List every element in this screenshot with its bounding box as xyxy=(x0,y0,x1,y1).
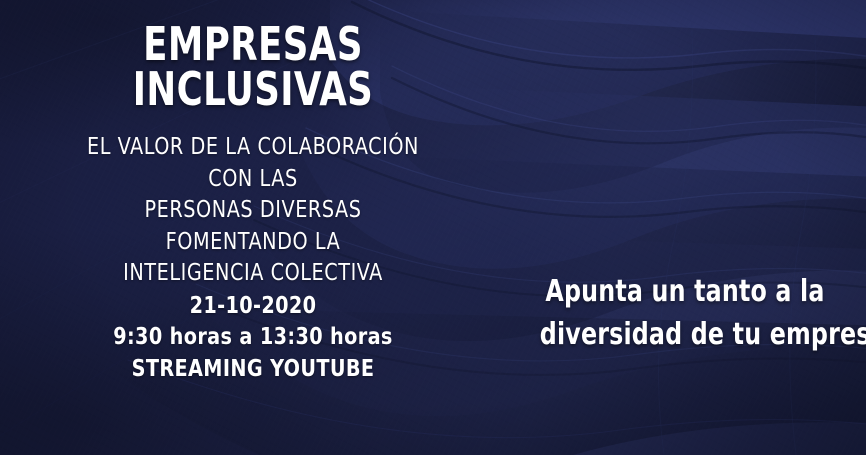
event-time: 9:30 horas a 13:30 horas xyxy=(34,322,471,354)
poster-headline: EMPRESAS INCLUSIVAS xyxy=(51,22,455,112)
poster-subtitle: EL VALOR DE LA COLABORACIÓN CON LAS PERS… xyxy=(34,132,471,290)
subtitle-line-2: CON LAS xyxy=(34,164,471,196)
right-text-block: Apunta un tanto a la diversidad de tu em… xyxy=(520,270,850,356)
headline-line-1: EMPRESAS xyxy=(51,22,455,67)
subtitle-line-4: FOMENTANDO LA xyxy=(34,227,471,259)
tagline-line-1: Apunta un tanto a la xyxy=(540,270,830,313)
poster-content: EMPRESAS INCLUSIVAS EL VALOR DE LA COLAB… xyxy=(0,0,866,455)
event-channel: STREAMING YOUTUBE xyxy=(34,354,471,386)
headline-line-2: INCLUSIVAS xyxy=(51,67,455,112)
left-text-block: EMPRESAS INCLUSIVAS EL VALOR DE LA COLAB… xyxy=(18,22,488,385)
subtitle-line-5: INTELIGENCIA COLECTIVA xyxy=(34,258,471,290)
tagline-line-2: diversidad de tu empresa xyxy=(540,313,830,356)
poster-canvas: EMPRESAS INCLUSIVAS EL VALOR DE LA COLAB… xyxy=(0,0,866,455)
event-details: 21-10-2020 9:30 horas a 13:30 horas STRE… xyxy=(34,291,471,386)
poster-tagline: Apunta un tanto a la diversidad de tu em… xyxy=(540,270,830,356)
subtitle-line-3: PERSONAS DIVERSAS xyxy=(34,195,471,227)
event-date: 21-10-2020 xyxy=(34,291,471,323)
subtitle-line-1: EL VALOR DE LA COLABORACIÓN xyxy=(34,132,471,164)
